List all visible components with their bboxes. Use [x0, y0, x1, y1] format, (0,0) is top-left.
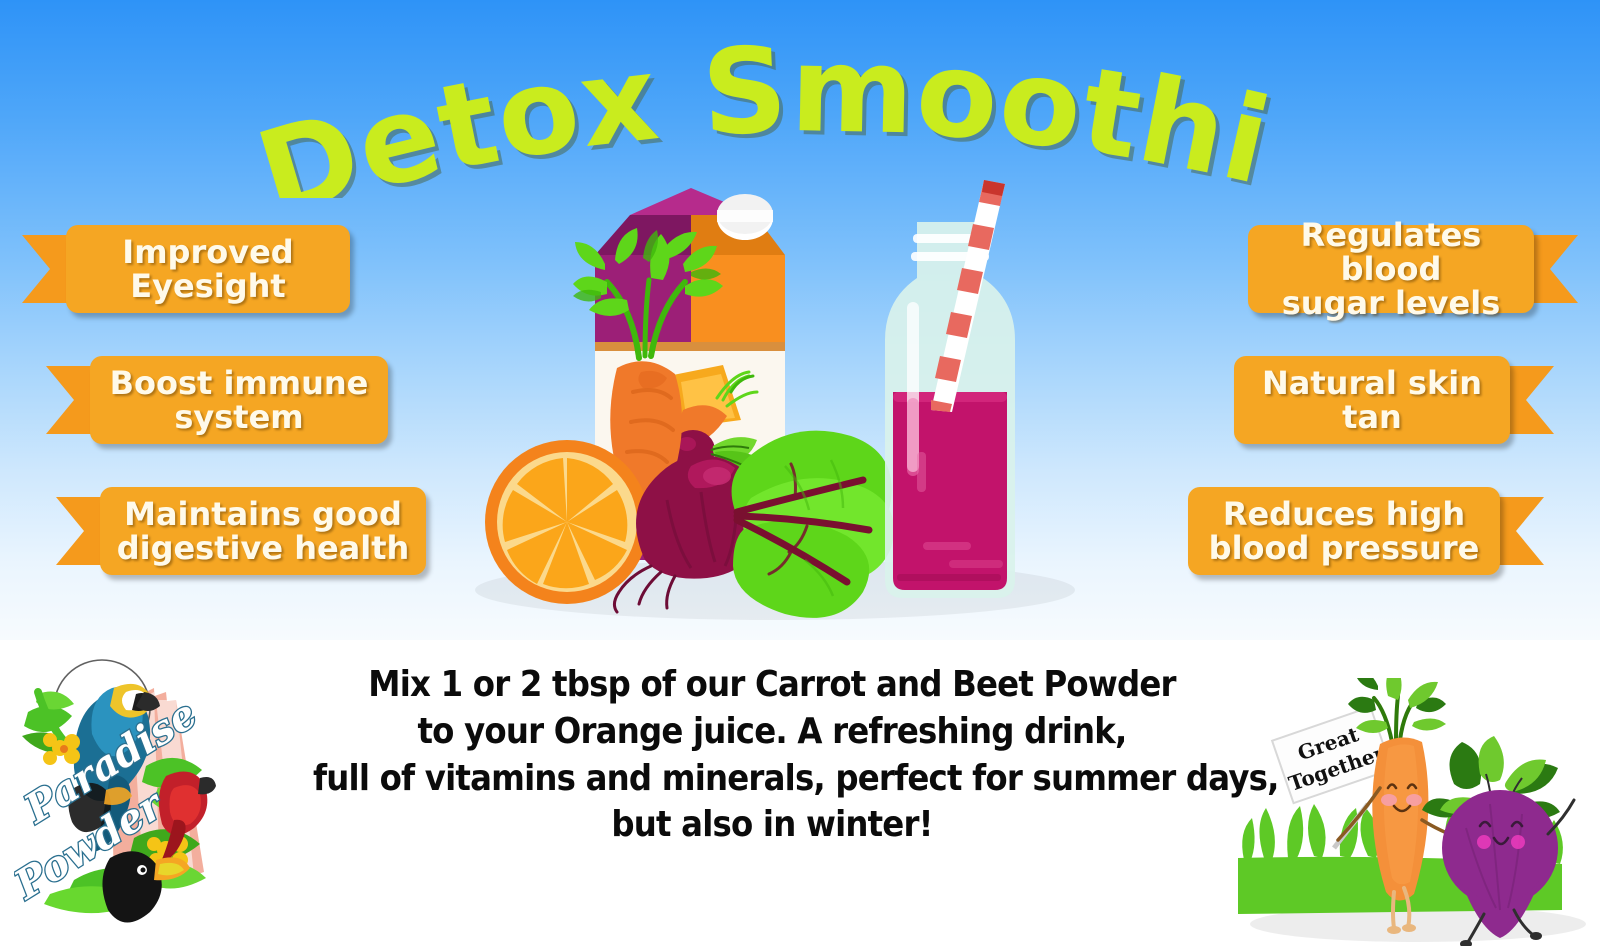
benefit-banner-plate: Maintains good digestive health [100, 487, 426, 575]
benefit-banner-plate: Reduces high blood pressure [1188, 487, 1500, 575]
brand-logo-paradise-powder[interactable]: Paradise Powder [14, 648, 224, 938]
mascot-scene: Great Together [1222, 678, 1592, 946]
poster-root: Detox Smoothie Detox Smoothie Improved E… [0, 0, 1600, 952]
orange-slice-icon [485, 440, 649, 604]
benefit-banner-plate: Regulates blood sugar levels [1248, 225, 1534, 313]
benefit-label: Reduces high blood pressure [1209, 497, 1480, 565]
benefit-label: Improved Eyesight [122, 235, 293, 303]
benefit-banner-plate: Improved Eyesight [66, 225, 350, 313]
instructions-line-2: to your Orange juice. A refreshing drink… [313, 709, 1231, 756]
benefit-banner-regulates-blood-sugar-levels[interactable]: Regulates blood sugar levels [1248, 225, 1578, 313]
benefit-banner-reduces-high-blood-pressure[interactable]: Reduces high blood pressure [1188, 487, 1544, 575]
instructions-line-1: Mix 1 or 2 tbsp of our Carrot and Beet P… [313, 662, 1231, 709]
product-illustration [455, 160, 1105, 640]
benefit-banner-improved-eyesight[interactable]: Improved Eyesight [22, 225, 350, 313]
benefit-label: Regulates blood sugar levels [1262, 218, 1520, 321]
benefit-label: Natural skin tan [1248, 366, 1496, 434]
benefit-banner-boost-immune-system[interactable]: Boost immune system [46, 356, 388, 444]
benefit-banner-plate: Natural skin tan [1234, 356, 1510, 444]
smoothie-bottle-icon [885, 180, 1015, 598]
benefit-label: Boost immune system [110, 366, 369, 434]
benefit-banner-maintains-good-digestive-health[interactable]: Maintains good digestive health [56, 487, 426, 575]
instructions-line-3: full of vitamins and minerals, perfect f… [313, 756, 1231, 803]
instructions-text: Mix 1 or 2 tbsp of our Carrot and Beet P… [313, 662, 1231, 849]
benefit-banner-plate: Boost immune system [90, 356, 388, 444]
benefit-label: Maintains good digestive health [117, 497, 410, 565]
instructions-line-4: but also in winter! [313, 802, 1231, 849]
benefit-banner-natural-skin-tan[interactable]: Natural skin tan [1234, 356, 1554, 444]
